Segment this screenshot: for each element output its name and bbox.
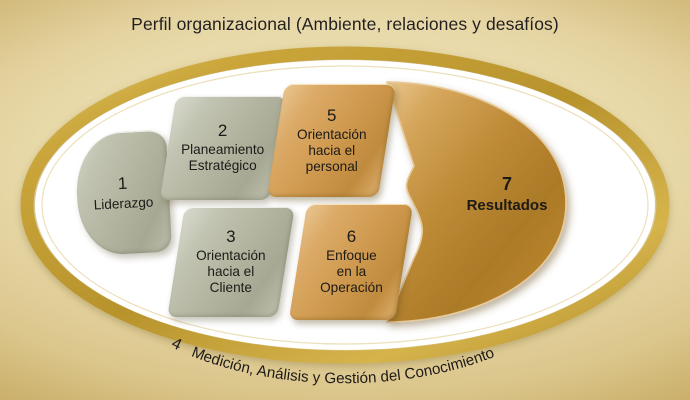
baldrige-framework-diagram: 4 Medición, Análisis y Gestión del Conoc…: [0, 0, 690, 400]
criterion-5-number: 5: [297, 106, 367, 126]
criterion-7-number: 7: [437, 174, 577, 195]
criterion-box-7-label: 7 Resultados: [437, 174, 577, 214]
criterion-6-number: 6: [320, 227, 383, 247]
page-title: Perfil organizacional (Ambiente, relacio…: [0, 14, 690, 35]
criterion-box-6[interactable]: 6 Enfoqueen laOperación: [289, 204, 413, 320]
criterion-box-3[interactable]: 3 Orientaciónhacia elCliente: [167, 207, 294, 317]
criterion-3-label: Orientaciónhacia elCliente: [196, 248, 266, 296]
criterion-box-5[interactable]: 5 Orientaciónhacia elpersonal: [267, 84, 396, 197]
criterion-5-label: Orientaciónhacia elpersonal: [297, 127, 367, 175]
criterion-7-label: Resultados: [437, 197, 577, 214]
criterion-box-2[interactable]: 2 PlaneamientoEstratégico: [160, 96, 286, 200]
criterion-2-label: PlaneamientoEstratégico: [181, 142, 264, 174]
criterion-1-number: 1: [92, 173, 153, 196]
criterion-1-label: Liderazgo: [93, 194, 153, 213]
criterion-2-number: 2: [181, 121, 264, 141]
criterion-3-number: 3: [196, 227, 266, 247]
criterion-6-label: Enfoqueen laOperación: [320, 248, 383, 296]
